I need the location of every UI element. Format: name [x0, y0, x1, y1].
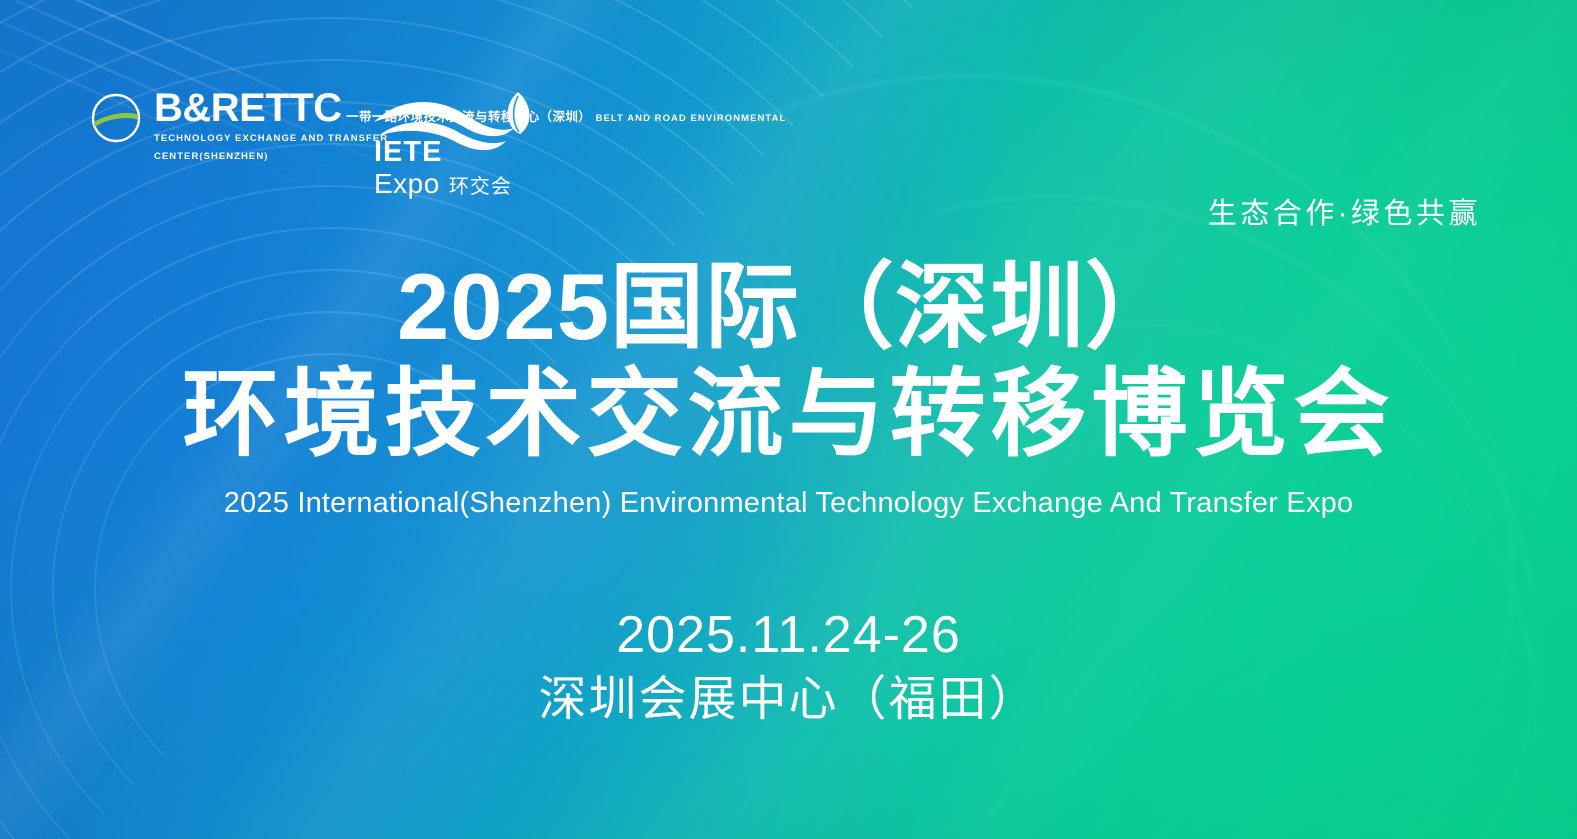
banner-title-block: 2025国际（深圳） 环境技术交流与转移博览会 2025 Internation…: [0, 258, 1577, 520]
brettc-wordmark: B&RETTC: [154, 86, 342, 130]
title-line-2: 环境技术交流与转移博览会: [0, 365, 1577, 466]
logo-iete-expo: IETE Expo 环交会: [372, 88, 540, 196]
brettc-name-en-line-2: TECHNOLOGY EXCHANGE AND TRANSFER: [154, 133, 388, 144]
title-subtitle-en: 2025 International(Shenzhen) Environment…: [0, 487, 1577, 520]
globe-road-icon: [88, 90, 144, 146]
iete-wordmark-group: IETE Expo 环交会: [374, 138, 512, 198]
banner-meta-block: 2025.11.24-26 深圳会展中心（福田）: [0, 606, 1577, 727]
iete-expo-label: Expo: [374, 170, 440, 198]
iete-wordmark-line-1: IETE: [374, 136, 442, 168]
brettc-name-en-line-3: CENTER(SHENZHEN): [154, 151, 268, 162]
banner-content: B&RETTC 一带一路环境技术交流与转移中心（深圳） BELT AND ROA…: [0, 0, 1577, 839]
iete-wordmark-line-2: Expo 环交会: [374, 170, 512, 198]
expo-banner: B&RETTC 一带一路环境技术交流与转移中心（深圳） BELT AND ROA…: [0, 0, 1577, 839]
event-venue: 深圳会展中心（福田）: [0, 672, 1577, 727]
banner-slogan: 生态合作·绿色共赢: [1208, 190, 1481, 232]
title-line-1: 2025国际（深圳）: [0, 258, 1577, 357]
iete-expo-label-cn: 环交会: [449, 177, 512, 197]
event-date: 2025.11.24-26: [0, 606, 1577, 666]
banner-header: B&RETTC 一带一路环境技术交流与转移中心（深圳） BELT AND ROA…: [0, 86, 1577, 196]
brettc-name-en-line-1: BELT AND ROAD ENVIRONMENTAL: [596, 113, 787, 124]
